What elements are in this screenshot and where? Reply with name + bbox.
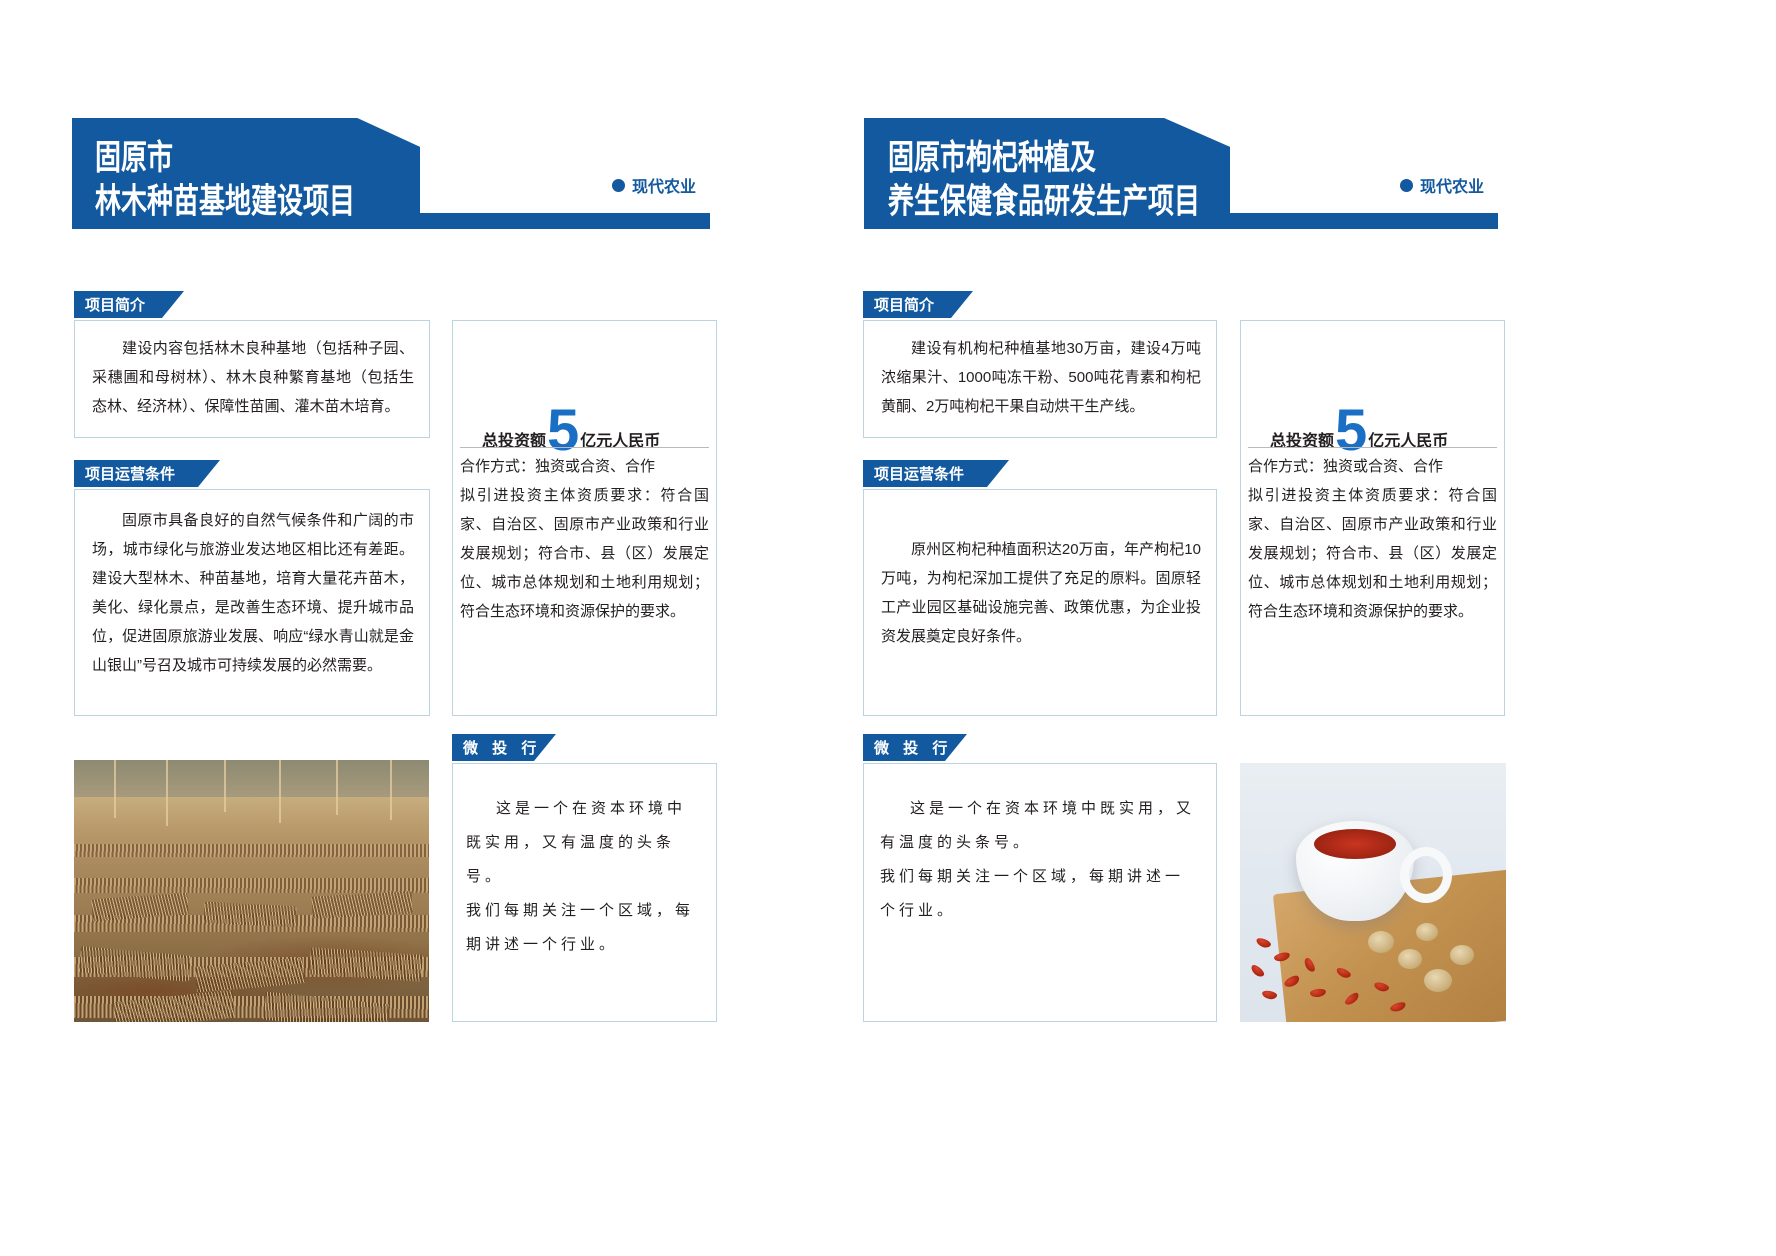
photo-seedling-bundle: [311, 891, 412, 918]
page-title: 固原市 林木种苗基地建设项目: [95, 136, 425, 223]
photo-seedling-bundle: [309, 947, 423, 982]
tree-seedling-field-photo: [74, 760, 429, 1022]
photo-seedling-bundle: [113, 990, 235, 1022]
photo-dried-fruit: [1398, 949, 1422, 969]
operating-body: 原州区枸杞种植面积达20万亩，年产枸杞10万吨，为枸杞深加工提供了充足的原料。固…: [881, 535, 1201, 651]
investment-details: 合作方式：独资或合资、合作 拟引进投资主体资质要求：符合国家、自治区、固原市产业…: [460, 452, 709, 626]
page-left: 固原市 林木种苗基地建设项目 现代农业 项目简介 建设内容包括林木良种基地（包括…: [0, 0, 888, 1256]
operating-body: 固原市具备良好的自然气候条件和广阔的市场，城市绿化与旅游业发达地区相比还有差距。…: [92, 506, 414, 680]
photo-berry: [1261, 990, 1277, 1000]
photo-stripe: [279, 760, 281, 823]
section-tag-operating: 项目运营条件: [74, 460, 220, 487]
commentary-body: 这是一个在资本环境中既实用，又有温度的头条号。 我们每期关注一个区域，每期讲述一…: [880, 792, 1202, 928]
photo-berry: [1249, 963, 1266, 979]
section-tag-commentary: 微 投 行 说: [863, 734, 967, 761]
investment-divider: [1248, 447, 1497, 448]
bullet-dot-icon: [612, 179, 625, 192]
category-tag: 现代农业: [612, 173, 696, 197]
bullet-dot-icon: [1400, 179, 1413, 192]
photo-cup-contents: [1314, 829, 1396, 859]
intro-body: 建设内容包括林木良种基地（包括种子园、采穗圃和母树林）、林木良种繁育基地（包括生…: [92, 334, 414, 421]
page-title: 固原市枸杞种植及 养生保健食品研发生产项目: [888, 136, 1240, 223]
photo-stripe: [166, 760, 168, 826]
photo-dried-fruit: [1368, 931, 1394, 953]
category-tag-label: 现代农业: [1420, 173, 1484, 197]
photo-seedling-row: [74, 844, 429, 857]
photo-seedling-bundle: [79, 947, 191, 982]
photo-stripe: [224, 760, 226, 812]
photo-cup-handle: [1400, 847, 1452, 903]
photo-dried-fruit: [1450, 945, 1474, 965]
investment-divider: [460, 447, 709, 448]
photo-stripe: [390, 760, 392, 820]
investment-details: 合作方式：独资或合资、合作 拟引进投资主体资质要求：符合国家、自治区、固原市产业…: [1248, 452, 1497, 626]
intro-body: 建设有机枸杞种植基地30万亩，建设4万吨浓缩果汁、1000吨冻干粉、500吨花青…: [881, 334, 1201, 421]
section-tag-operating: 项目运营条件: [863, 460, 1009, 487]
commentary-body: 这是一个在资本环境中既实用，又有温度的头条号。 我们每期关注一个区域，每期讲述一…: [466, 792, 698, 962]
photo-dried-fruit: [1424, 969, 1452, 992]
page-right: 固原市枸杞种植及 养生保健食品研发生产项目 现代农业 项目简介 建设有机枸杞种植…: [888, 0, 1776, 1256]
category-tag: 现代农业: [1400, 173, 1484, 197]
photo-berry: [1255, 937, 1272, 950]
section-tag-commentary: 微 投 行 说: [452, 734, 556, 761]
section-tag-intro: 项目简介: [74, 291, 184, 318]
photo-dried-fruit: [1416, 923, 1438, 941]
photo-seedling-row: [74, 878, 429, 893]
photo-stripe: [336, 760, 338, 815]
section-tag-intro: 项目简介: [863, 291, 973, 318]
goji-berry-cup-photo: [1240, 763, 1506, 1022]
category-tag-label: 现代农业: [632, 173, 696, 197]
photo-horizon: [74, 760, 429, 797]
photo-stripe: [114, 760, 116, 818]
